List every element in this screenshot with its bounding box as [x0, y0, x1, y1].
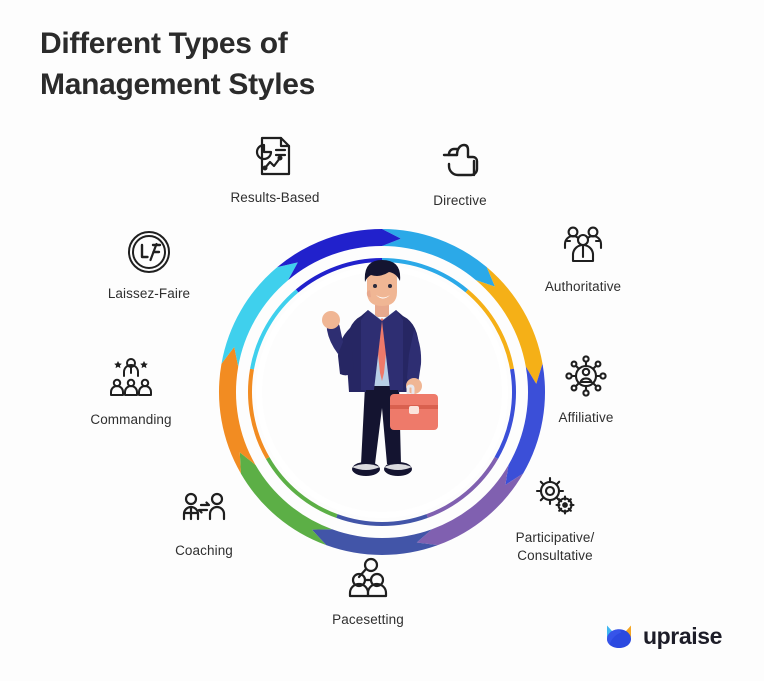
pointing-hand-icon: [436, 135, 484, 183]
node-directive[interactable]: Directive: [385, 135, 535, 210]
node-participative-consultative[interactable]: Participative/ Consultative: [480, 472, 630, 565]
node-label: Authoritative: [545, 279, 621, 294]
node-commanding[interactable]: Commanding: [56, 354, 206, 429]
node-pacesetting[interactable]: Pacesetting: [293, 554, 443, 629]
page-title: Different Types of Management Styles: [40, 24, 315, 106]
node-coaching[interactable]: Coaching: [129, 485, 279, 560]
node-label: Commanding: [90, 412, 171, 427]
two-people-exchange-icon: [180, 485, 228, 533]
hierarchy-stars-icon: [107, 354, 155, 402]
node-results-based[interactable]: Results-Based: [200, 132, 350, 207]
node-label: Coaching: [175, 543, 233, 558]
lf-circle-icon: [125, 228, 173, 276]
logo-wordmark: upraise: [643, 623, 722, 650]
team-group-icon: [559, 221, 607, 269]
infographic-canvas: Different Types of Management Styles: [0, 0, 764, 681]
node-affiliative[interactable]: Affiliative: [511, 352, 661, 427]
upraise-logo-mark: [604, 621, 634, 651]
person-network-icon: [562, 352, 610, 400]
node-label: Participative/ Consultative: [516, 530, 595, 563]
node-label: Results-Based: [230, 190, 319, 205]
node-authoritative[interactable]: Authoritative: [508, 221, 658, 296]
node-label: Affiliative: [559, 410, 614, 425]
report-chart-document-icon: [251, 132, 299, 180]
businessman-illustration: [302, 258, 462, 508]
upraise-logo[interactable]: upraise: [604, 621, 722, 651]
node-laissez-faire[interactable]: Laissez-Faire: [74, 228, 224, 303]
gears-icon: [531, 472, 579, 520]
leader-people-icon: [344, 554, 392, 602]
node-label: Directive: [433, 193, 486, 208]
node-label: Laissez-Faire: [108, 286, 190, 301]
node-label: Pacesetting: [332, 612, 404, 627]
